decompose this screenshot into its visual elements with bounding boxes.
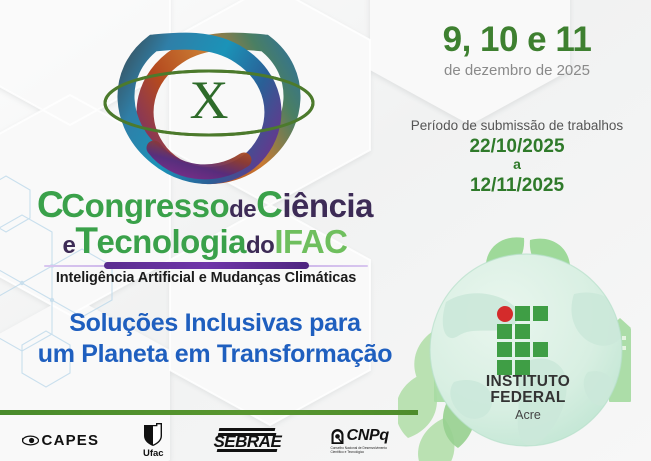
- instituto-federal-logo: INSTITUTO FEDERAL Acre: [468, 306, 588, 422]
- purple-divider: [44, 262, 368, 269]
- wm-e: e: [63, 232, 76, 259]
- submission-start: 22/10/2025: [383, 136, 651, 157]
- wm-do: do: [246, 232, 274, 259]
- if-campus: Acre: [468, 408, 588, 422]
- if-name-line1: INSTITUTO: [468, 374, 588, 390]
- ufac-label: Ufac: [143, 448, 164, 459]
- cnpq-sublabel: Conselho Nacional de Desenvolvimento Cie…: [330, 446, 396, 454]
- roman-numeral-x: X: [96, 8, 322, 198]
- if-name-line2: FEDERAL: [468, 390, 588, 406]
- if-red-dot: [497, 306, 513, 322]
- sponsor-sebrae: SEBRAE: [207, 428, 287, 454]
- wm-congresso-cap: C: [37, 184, 63, 225]
- capes-label: CAPES: [42, 432, 100, 449]
- slogan-line-2: um Planeta em Transformação: [0, 339, 430, 370]
- wordmark-line-2: eTecnologiadoIFAC: [0, 222, 410, 260]
- poster-slogan: Soluções Inclusivas para um Planeta em T…: [0, 308, 430, 371]
- wm-ciencia-cap: C: [256, 184, 282, 225]
- conference-poster: INSTITUTO FEDERAL Acre: [0, 0, 651, 461]
- event-month-year: de dezembro de 2025: [383, 62, 651, 79]
- sponsor-logos: CAPES Ufac SEBRAE: [0, 420, 418, 461]
- wordmark-line-1: CCongressodeCiência: [0, 186, 410, 224]
- green-divider: [0, 410, 418, 415]
- submission-label: Período de submissão de trabalhos: [383, 118, 651, 133]
- atom-logo: X: [96, 8, 322, 198]
- capes-eye-icon: [22, 434, 39, 447]
- poster-subtitle: Inteligência Artificial e Mudanças Climá…: [0, 270, 412, 286]
- event-days: 9, 10 e 11: [383, 22, 651, 59]
- event-dates: 9, 10 e 11 de dezembro de 2025: [383, 22, 651, 79]
- slogan-line-1: Soluções Inclusivas para: [0, 308, 430, 339]
- wm-congresso: Congresso: [61, 187, 229, 224]
- sponsor-capes: CAPES: [22, 432, 100, 449]
- wm-tecnologia: ecnologia: [96, 223, 246, 260]
- wm-ciencia: iência: [282, 187, 373, 224]
- if-mark: [497, 306, 559, 368]
- submission-period: Período de submissão de trabalhos 22/10/…: [383, 118, 651, 196]
- ufac-shield-icon: [142, 423, 164, 447]
- cnpq-mark-icon: [330, 428, 345, 445]
- cnpq-label: CNPq: [346, 427, 388, 445]
- congress-wordmark: CCongressodeCiência eTecnologiadoIFAC: [0, 186, 410, 259]
- wm-ifac: IFAC: [274, 223, 347, 260]
- submission-end: 12/11/2025: [383, 175, 651, 196]
- sponsor-cnpq: CNPq Conselho Nacional de Desenvolviment…: [330, 427, 396, 454]
- wm-de: de: [229, 196, 256, 223]
- sponsor-ufac: Ufac: [142, 423, 164, 459]
- wm-tecnologia-cap: T: [75, 220, 97, 261]
- submission-connector: a: [383, 157, 651, 172]
